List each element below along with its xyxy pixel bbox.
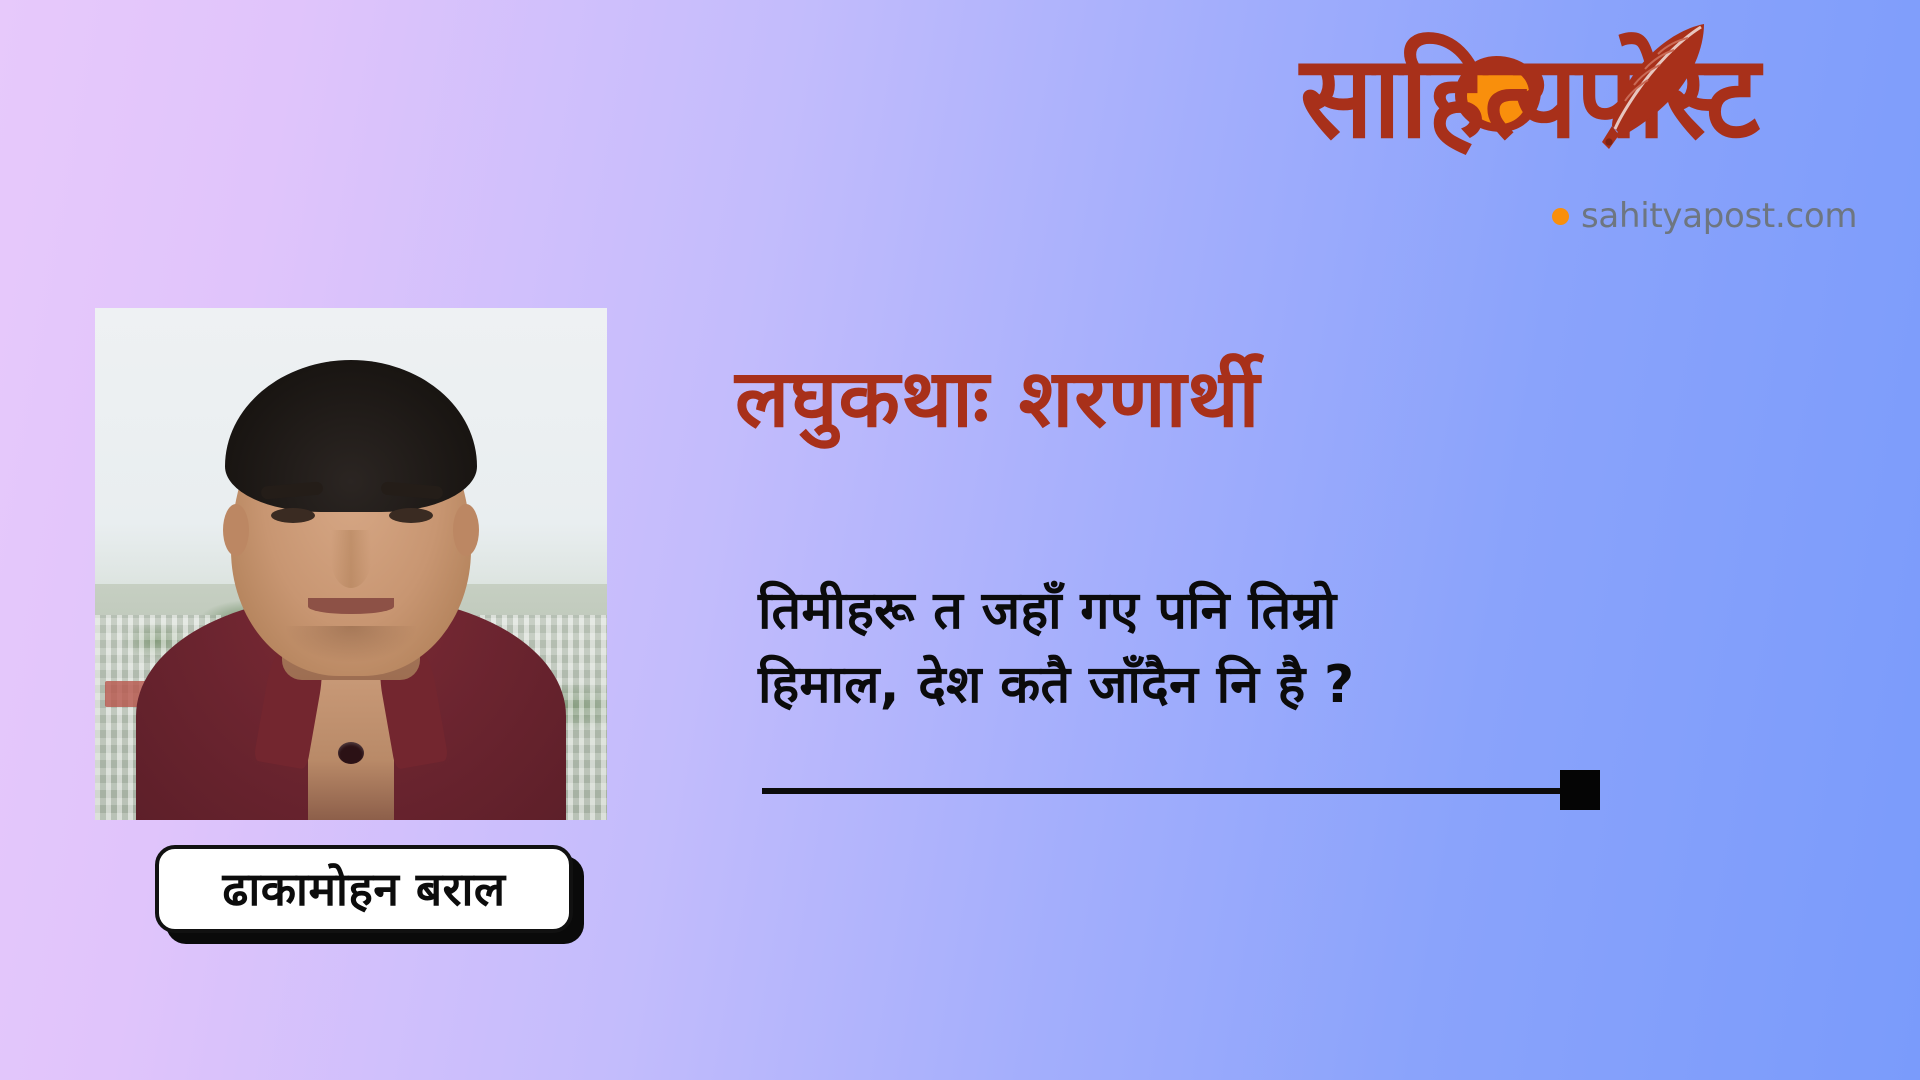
quill-feather-icon — [1600, 18, 1720, 150]
brand-url[interactable]: sahityapost.com — [1552, 196, 1857, 236]
square-end-marker — [1560, 770, 1600, 810]
headline-title: लघुकथाः शरणार्थी — [735, 355, 1260, 443]
author-name-label: ढाकामोहन बराल — [222, 866, 505, 912]
excerpt-line-2: हिमाल, देश कतै जाँदैन नि है ? — [758, 649, 1638, 723]
decorative-rule — [762, 770, 1602, 812]
author-photo-frame — [95, 308, 607, 820]
excerpt-line-1: तिमीहरू त जहाँ गए पनि तिम्रो — [758, 575, 1638, 649]
author-name-badge: ढाकामोहन बराल — [155, 845, 573, 933]
author-photo — [95, 308, 607, 820]
portrait-chin-shadow — [286, 626, 416, 662]
portrait-mouth — [308, 598, 394, 614]
portrait-nose — [331, 530, 371, 588]
portrait-eye-right — [389, 508, 433, 523]
brand-url-label: sahityapost.com — [1581, 196, 1857, 236]
poster-canvas: साहित्यपोस्ट sahityapost.com — [0, 0, 1920, 1080]
orange-dot-icon — [1552, 208, 1569, 225]
portrait-ear-right — [453, 504, 479, 556]
portrait-ear-left — [223, 504, 249, 556]
excerpt-text: तिमीहरू त जहाँ गए पनि तिम्रो हिमाल, देश … — [758, 575, 1638, 723]
portrait-eye-left — [271, 508, 315, 523]
horizontal-rule — [762, 788, 1562, 794]
brand-logo[interactable]: साहित्यपोस्ट sahityapost.com — [1300, 18, 1910, 243]
portrait-vest-button — [338, 742, 364, 764]
